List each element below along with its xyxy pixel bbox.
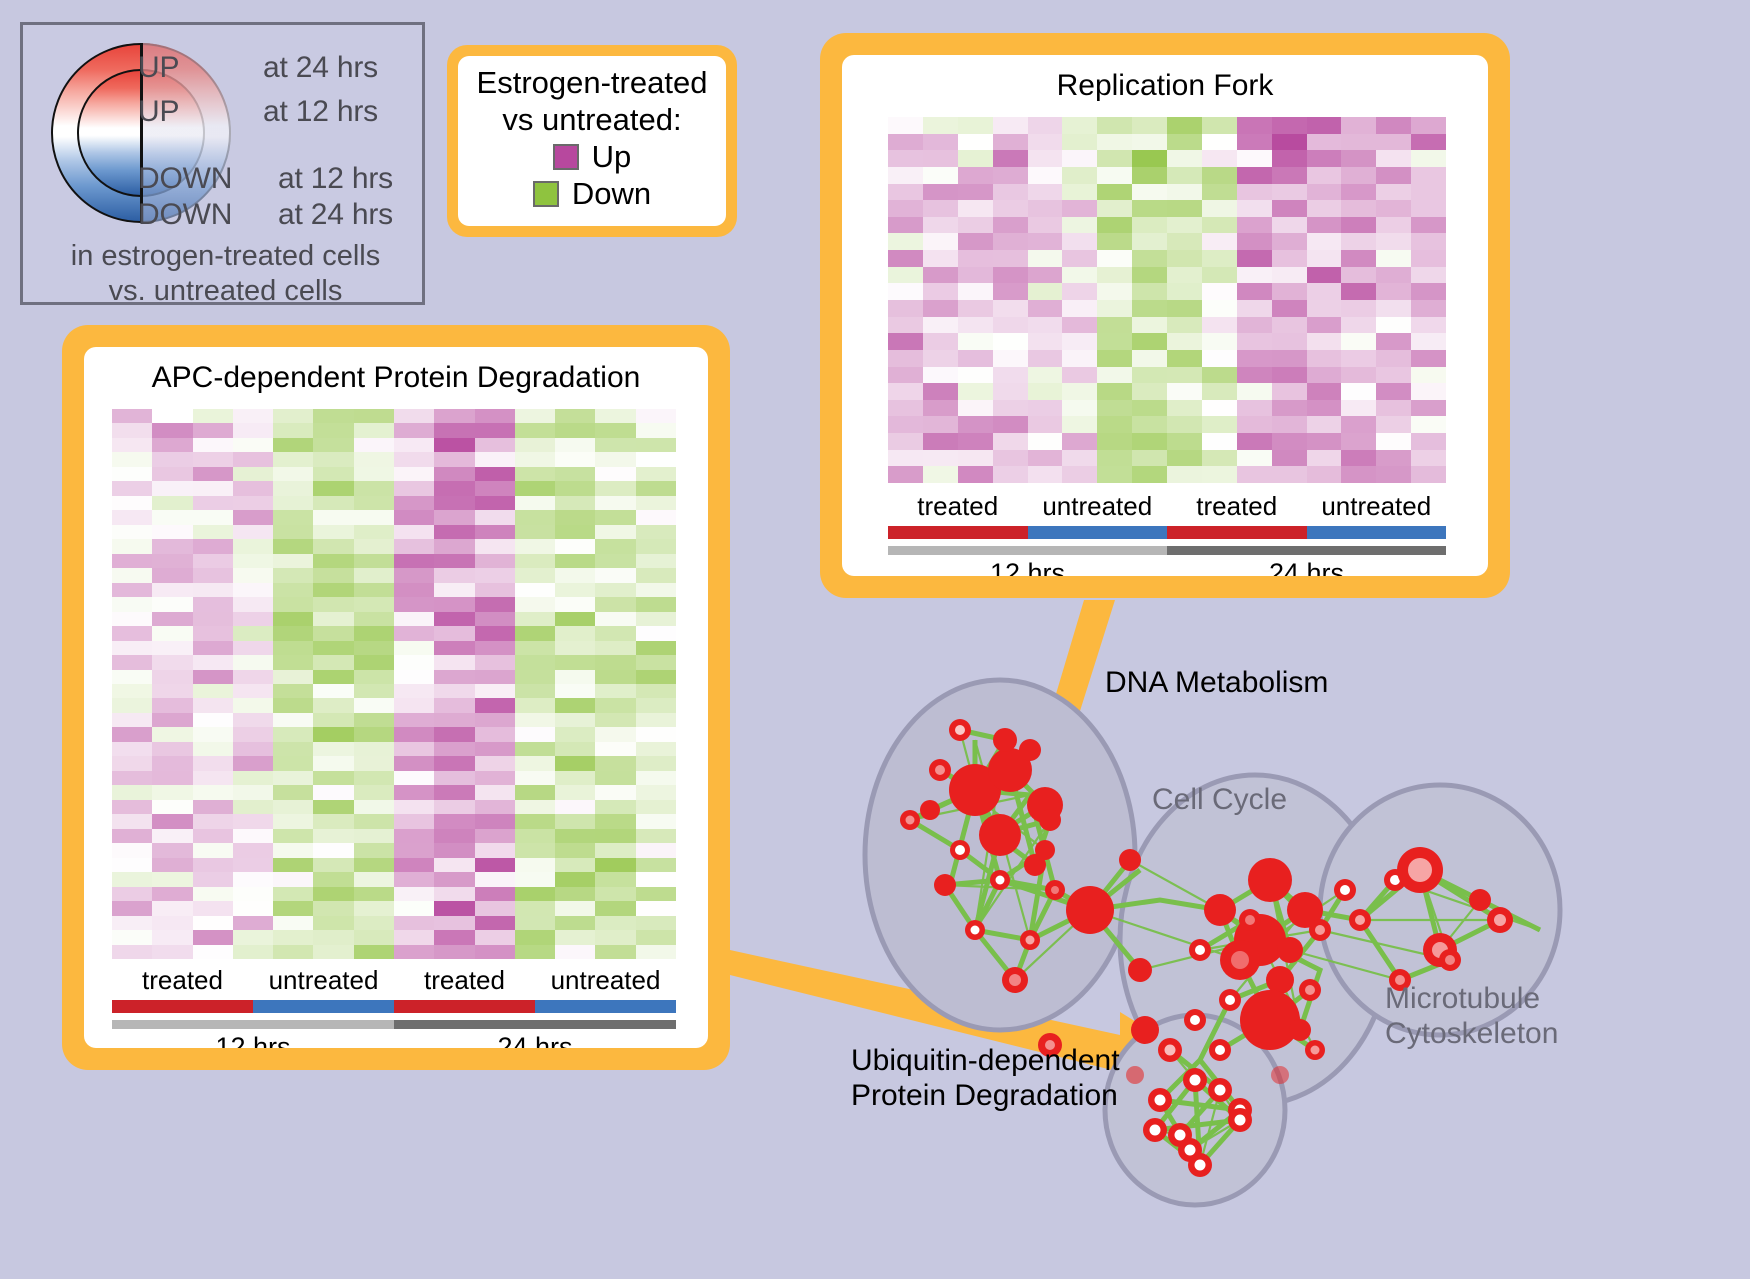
heatmap-cell <box>313 481 353 495</box>
time-labels-apc: 12 hrs 24 hrs <box>112 1032 676 1048</box>
heatmap-cell <box>354 684 394 698</box>
group-labels-apc: treated untreated treated untreated <box>112 965 676 996</box>
heatmap-cell <box>152 684 192 698</box>
heatmap-cell <box>923 283 958 300</box>
heatmap-cell <box>112 525 152 539</box>
heatmap-cell <box>1411 367 1446 384</box>
heatmap-cell <box>193 843 233 857</box>
heatmap-cell <box>1028 134 1063 151</box>
heatmap-cell <box>636 481 676 495</box>
heatmap-cell <box>1132 383 1167 400</box>
heatmap-cell <box>152 525 192 539</box>
heatmap-cell <box>193 872 233 886</box>
heatmap-cell <box>1062 233 1097 250</box>
heatmap-cell <box>434 843 474 857</box>
heatmap-cell <box>1307 167 1342 184</box>
heatmap-cell <box>434 525 474 539</box>
heatmap-cell <box>1062 167 1097 184</box>
heatmap-cell <box>515 510 555 524</box>
heatmap-cell <box>152 670 192 684</box>
heatmap-cell <box>515 481 555 495</box>
heatmap-cell <box>152 829 192 843</box>
heatmap-cell <box>1341 283 1376 300</box>
heatmap-cell <box>112 858 152 872</box>
heatmap-cell <box>1028 300 1063 317</box>
heatmap-cell <box>354 655 394 669</box>
heatmap-cell <box>636 467 676 481</box>
heatmap-cell <box>233 467 273 481</box>
heatmap-cell <box>112 843 152 857</box>
heatmap-cell <box>958 117 993 134</box>
heatmap-cell <box>394 800 434 814</box>
heatmap-cell <box>923 383 958 400</box>
heatmap-cell <box>394 409 434 423</box>
heatmap-cell <box>152 467 192 481</box>
heatmap-cell <box>273 597 313 611</box>
heatmap-cell <box>313 597 353 611</box>
heatmap-cell <box>1202 283 1237 300</box>
bar-treated-12 <box>112 1000 253 1013</box>
group-label-treated-24: treated <box>394 965 535 996</box>
heatmap-cell <box>1341 433 1376 450</box>
heatmap-cell <box>313 539 353 553</box>
heatmap-cell <box>1272 350 1307 367</box>
legend-row-up: Up <box>553 139 632 175</box>
heatmap-cell <box>515 684 555 698</box>
heatmap-cell <box>313 438 353 452</box>
heatmap-cell <box>888 184 923 201</box>
bar-12hrs <box>112 1020 394 1029</box>
heatmap-cell <box>993 350 1028 367</box>
heatmap-cell <box>313 843 353 857</box>
heatmap-cell <box>475 641 515 655</box>
heatmap-cell <box>112 612 152 626</box>
ring-time-down-12: at 12 hrs <box>278 162 393 196</box>
heatmap-cell <box>273 930 313 944</box>
heatmap-cell <box>1062 317 1097 334</box>
heatmap-cell <box>1307 283 1342 300</box>
heatmap-cell <box>923 300 958 317</box>
heatmap-cell <box>152 698 192 712</box>
heatmap-cell <box>475 916 515 930</box>
heatmap-cell <box>152 510 192 524</box>
heatmap-cell <box>354 626 394 640</box>
heatmap-cell <box>555 785 595 799</box>
heatmap-cell <box>595 930 635 944</box>
heatmap-cell <box>1341 167 1376 184</box>
heatmap-cell <box>555 916 595 930</box>
heatmap-cell <box>152 930 192 944</box>
heatmap-cell <box>515 525 555 539</box>
heatmap-cell <box>1376 416 1411 433</box>
heatmap-cell <box>354 481 394 495</box>
heatmap-cell <box>112 945 152 959</box>
heatmap-cell <box>233 525 273 539</box>
heatmap-cell <box>1272 134 1307 151</box>
heatmap-cell <box>112 452 152 466</box>
heatmap-cell <box>1411 150 1446 167</box>
heatmap-cell <box>958 250 993 267</box>
heatmap-cell <box>112 829 152 843</box>
heatmap-cell <box>923 400 958 417</box>
heatmap-cell <box>112 930 152 944</box>
heatmap-cell <box>233 829 273 843</box>
heatmap-cell <box>1028 433 1063 450</box>
heatmap-cell <box>313 713 353 727</box>
heatmap-cell <box>595 568 635 582</box>
heatmap-cell <box>1132 217 1167 234</box>
heatmap-cell <box>636 945 676 959</box>
heatmap-cell <box>888 150 923 167</box>
bar-treated-24 <box>394 1000 535 1013</box>
heatmap-cell <box>1132 400 1167 417</box>
heatmap-cell <box>1202 134 1237 151</box>
heatmap-cell <box>1167 450 1202 467</box>
heatmap-cell <box>1062 333 1097 350</box>
heatmap-cell <box>1341 466 1376 483</box>
heatmap-cell <box>888 250 923 267</box>
heatmap-cell <box>515 829 555 843</box>
heatmap-cell <box>354 901 394 915</box>
heatmap-cell <box>394 438 434 452</box>
heatmap-cell <box>595 756 635 770</box>
heatmap-cell <box>1097 134 1132 151</box>
heatmap-cell <box>1376 217 1411 234</box>
heatmap-cell <box>555 872 595 886</box>
heatmap-cell <box>1167 367 1202 384</box>
heatmap-cell <box>636 785 676 799</box>
heatmap-cell <box>193 670 233 684</box>
heatmap-cell <box>1307 416 1342 433</box>
heatmap-cell <box>555 525 595 539</box>
heatmap-cell <box>1028 416 1063 433</box>
heatmap-cell <box>1376 450 1411 467</box>
heatmap-cell <box>394 843 434 857</box>
heatmap-cell <box>888 466 923 483</box>
heatmap-cell <box>354 698 394 712</box>
heatmap-cell <box>394 684 434 698</box>
heatmap-cell <box>888 217 923 234</box>
heatmap-cell <box>1028 150 1063 167</box>
heatmap-cell <box>475 727 515 741</box>
heatmap-cell <box>1341 233 1376 250</box>
heatmap-cell <box>1341 184 1376 201</box>
heatmap-cell <box>1237 167 1272 184</box>
heatmap-cell <box>1028 400 1063 417</box>
heatmap-cell <box>1097 416 1132 433</box>
heatmap-cell <box>993 466 1028 483</box>
heatmap-cell <box>1376 233 1411 250</box>
heatmap-cell <box>112 901 152 915</box>
heatmap-cell <box>888 416 923 433</box>
heatmap-cell <box>193 901 233 915</box>
heatmap-cell <box>555 901 595 915</box>
group-label-untreated-12: untreated <box>253 965 394 996</box>
heatmap-cell <box>1237 400 1272 417</box>
heatmap-cell <box>475 525 515 539</box>
heatmap-cell <box>1062 200 1097 217</box>
heatmap-cell <box>1028 267 1063 284</box>
heatmap-cell <box>1411 383 1446 400</box>
heatmap-cell <box>1237 283 1272 300</box>
heatmap-cell <box>313 684 353 698</box>
heatmap-cell <box>1097 466 1132 483</box>
heatmap-cell <box>1062 367 1097 384</box>
heatmap-cell <box>112 727 152 741</box>
heatmap-cell <box>1272 416 1307 433</box>
heatmap-cell <box>193 698 233 712</box>
cluster-label-microtubule-cytoskeleton: Microtubule Cytoskeleton <box>1385 982 1558 1052</box>
heatmap-cell <box>152 901 192 915</box>
heatmap-cell <box>394 771 434 785</box>
heatmap-cell <box>394 887 434 901</box>
heatmap-cell <box>1062 383 1097 400</box>
heatmap-cell <box>993 300 1028 317</box>
heatmap-cell <box>354 641 394 655</box>
heatmap-cell <box>152 887 192 901</box>
heatmap-cell <box>1202 317 1237 334</box>
heatmap-cell <box>1237 383 1272 400</box>
heatmap-cell <box>233 496 273 510</box>
heatmap-cell <box>273 858 313 872</box>
heatmap-cell <box>434 901 474 915</box>
heatmap-cell <box>555 887 595 901</box>
heatmap-cell <box>112 438 152 452</box>
heatmap-cell <box>394 742 434 756</box>
heatmap-cell <box>152 423 192 437</box>
heatmap-cell <box>475 554 515 568</box>
heatmap-cell <box>233 510 273 524</box>
heatmap-cell <box>152 554 192 568</box>
heatmap-cell <box>888 383 923 400</box>
heatmap-cell <box>1272 267 1307 284</box>
heatmap-cell <box>394 814 434 828</box>
heatmap-cell <box>888 333 923 350</box>
heatmap-cell <box>233 597 273 611</box>
heatmap-cell <box>555 930 595 944</box>
heatmap-cell <box>354 814 394 828</box>
heatmap-cell <box>923 200 958 217</box>
heatmap-cell <box>636 684 676 698</box>
heatmap-cell <box>923 367 958 384</box>
heatmap-cell <box>1237 134 1272 151</box>
heatmap-cell <box>1376 300 1411 317</box>
heatmap-cell <box>193 467 233 481</box>
heatmap-cell <box>1376 267 1411 284</box>
heatmap-cell <box>515 887 555 901</box>
heatmap-cell <box>152 597 192 611</box>
heatmap-cell <box>1062 267 1097 284</box>
heatmap-cell <box>888 167 923 184</box>
heatmap-cell <box>595 423 635 437</box>
heatmap-cell <box>233 901 273 915</box>
up-color-swatch <box>553 144 579 170</box>
heatmap-cell <box>555 655 595 669</box>
heatmap-cell <box>636 800 676 814</box>
heatmap-cell <box>233 713 273 727</box>
heatmap-cell <box>958 400 993 417</box>
heatmap-cell <box>394 756 434 770</box>
heatmap-cell <box>112 554 152 568</box>
heatmap-cell <box>273 438 313 452</box>
heatmap-cell <box>555 945 595 959</box>
heatmap-cell <box>1411 267 1446 284</box>
heatmap-cell <box>1202 350 1237 367</box>
heatmap-cell <box>1097 400 1132 417</box>
down-color-swatch <box>533 181 559 207</box>
heatmap-cell <box>636 626 676 640</box>
heatmap-cell <box>1272 450 1307 467</box>
heatmap-cell <box>233 583 273 597</box>
heatmap-cell <box>434 481 474 495</box>
heatmap-cell <box>515 872 555 886</box>
time-label-12hrs: 12 hrs <box>112 1032 394 1048</box>
heatmap-cell <box>1411 333 1446 350</box>
heatmap-cell <box>112 539 152 553</box>
heatmap-cell <box>923 134 958 151</box>
heatmap-cell <box>555 423 595 437</box>
heatmap-cell <box>273 713 313 727</box>
heatmap-cell <box>193 771 233 785</box>
heatmap-cell <box>923 184 958 201</box>
heatmap-cell <box>193 452 233 466</box>
heatmap-cell <box>1341 300 1376 317</box>
heatmap-cell <box>394 670 434 684</box>
heatmap-cell <box>515 930 555 944</box>
heatmap-cell <box>354 597 394 611</box>
heatmap-cell <box>636 901 676 915</box>
heatmap-cell <box>152 641 192 655</box>
heatmap-cell <box>1341 117 1376 134</box>
heatmap-cell <box>1097 333 1132 350</box>
heatmap-cell <box>112 568 152 582</box>
heatmap-cell <box>595 481 635 495</box>
heatmap-cell <box>1167 250 1202 267</box>
up-label: Up <box>592 139 632 175</box>
heatmap-cell <box>193 539 233 553</box>
heatmap-cell <box>515 438 555 452</box>
heatmap-cell <box>1376 333 1411 350</box>
heatmap-cell <box>233 771 273 785</box>
heatmap-cell <box>475 452 515 466</box>
heatmap-cell <box>273 771 313 785</box>
heatmap-cell <box>595 785 635 799</box>
heatmap-cell <box>434 641 474 655</box>
heatmap-cell <box>112 814 152 828</box>
heatmap-cell <box>1167 150 1202 167</box>
heatmap-cell <box>434 887 474 901</box>
heatmap-cell <box>1307 466 1342 483</box>
heatmap-cell <box>993 167 1028 184</box>
heatmap-cell <box>354 742 394 756</box>
heatmap-cell <box>1132 134 1167 151</box>
heatmap-cell <box>1411 350 1446 367</box>
heatmap-cell <box>515 945 555 959</box>
heatmap-cell <box>888 200 923 217</box>
heatmap-cell <box>1237 416 1272 433</box>
heatmap-cell <box>993 117 1028 134</box>
heatmap-cell <box>1341 317 1376 334</box>
heatmap-cell <box>354 916 394 930</box>
heatmap-cell <box>193 554 233 568</box>
ring-label-up-24: UP <box>138 51 179 85</box>
heatmap-cell <box>313 727 353 741</box>
heatmap-cell <box>193 887 233 901</box>
heatmap-cell <box>555 800 595 814</box>
heatmap-cell <box>1132 317 1167 334</box>
heatmap-cell <box>313 756 353 770</box>
heatmap-cell <box>515 626 555 640</box>
heatmap-cell <box>434 684 474 698</box>
heatmap-cell <box>475 568 515 582</box>
heatmap-cell <box>555 771 595 785</box>
heatmap-cell <box>923 233 958 250</box>
heatmap-cell <box>394 785 434 799</box>
heatmap-cell <box>313 655 353 669</box>
bar-treated-12 <box>888 526 1028 539</box>
heatmap-cell <box>152 481 192 495</box>
heatmap-cell <box>273 829 313 843</box>
heatmap-cell <box>313 641 353 655</box>
heatmap-cell <box>515 727 555 741</box>
heatmap-cell <box>1167 167 1202 184</box>
heatmap-cell <box>1307 117 1342 134</box>
heatmap-cell <box>1167 333 1202 350</box>
panel-title-apc: APC-dependent Protein Degradation <box>84 361 708 395</box>
bar-untreated-12 <box>253 1000 394 1013</box>
heatmap-cell <box>152 626 192 640</box>
heatmap-cell <box>313 568 353 582</box>
heatmap-cell <box>1237 466 1272 483</box>
heatmap-cell <box>555 409 595 423</box>
heatmap-cell <box>1132 200 1167 217</box>
heatmap-cell <box>394 829 434 843</box>
heatmap-cell <box>233 800 273 814</box>
group-label-untreated-12: untreated <box>1028 491 1168 522</box>
heatmap-cell <box>958 450 993 467</box>
heatmap-cell <box>394 583 434 597</box>
heatmap-cell <box>434 568 474 582</box>
heatmap-cell <box>233 626 273 640</box>
heatmap-cell <box>923 466 958 483</box>
heatmap-cell <box>1028 350 1063 367</box>
heatmap-cell <box>636 829 676 843</box>
heatmap-cell <box>1341 134 1376 151</box>
heatmap-cell <box>313 945 353 959</box>
heatmap-cell <box>434 409 474 423</box>
heatmap-cell <box>475 626 515 640</box>
heatmap-cell <box>233 756 273 770</box>
heatmap-cell <box>1411 117 1446 134</box>
heatmap-cell <box>1202 300 1237 317</box>
heatmap-cell <box>273 814 313 828</box>
heatmap-cell <box>112 713 152 727</box>
cluster-label-microtubule: Microtubule <box>1385 982 1558 1017</box>
bar-24hrs <box>1167 546 1446 555</box>
heatmap-cell <box>394 930 434 944</box>
heatmap-cell <box>1272 117 1307 134</box>
time-color-bar-replication-fork <box>888 546 1446 555</box>
heatmap-cell <box>958 466 993 483</box>
heatmap-cell <box>1062 150 1097 167</box>
heatmap-cell <box>1132 184 1167 201</box>
heatmap-cell <box>394 597 434 611</box>
heatmap-cell <box>555 597 595 611</box>
heatmap-cell <box>152 568 192 582</box>
heatmap-cell <box>313 496 353 510</box>
heatmap-cell <box>475 670 515 684</box>
heatmap-cell <box>515 583 555 597</box>
